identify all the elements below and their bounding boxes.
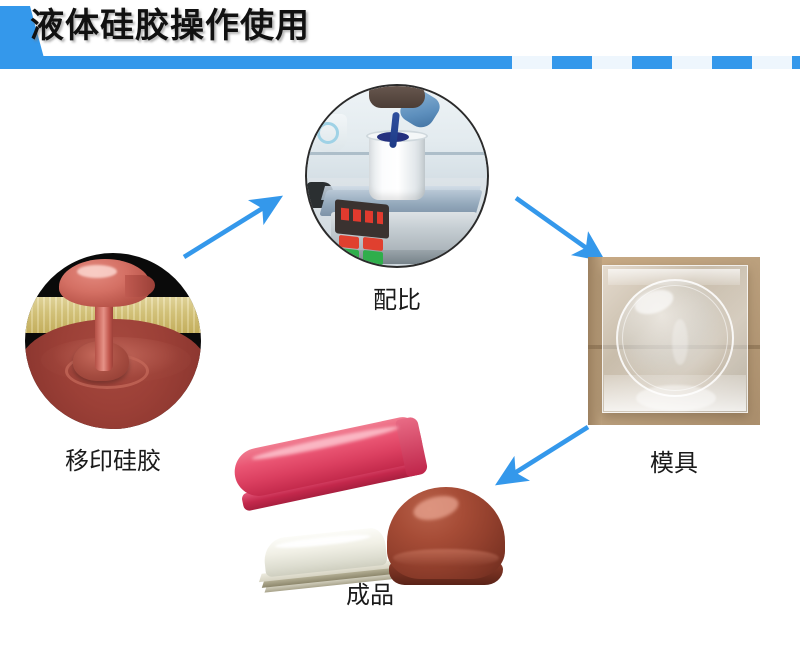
arrow-silicone-to-ratio [184, 200, 276, 257]
cavity-bottom-reflection [636, 385, 716, 411]
cardboard-edge-left [588, 257, 602, 425]
cavity-highlight-2 [672, 319, 688, 365]
operator-hand [369, 84, 425, 108]
silicone-photo [25, 253, 201, 429]
flow-label-mold: 模具 [588, 443, 760, 478]
dome-pad-edge-sheen [393, 549, 499, 567]
scale-key-green-1 [339, 248, 359, 263]
flow-label-ratio: 配比 [305, 280, 489, 315]
arrow-ratio-to-mold [516, 198, 599, 257]
scale-key-green-2 [363, 250, 383, 265]
product-red-dome-pad [387, 487, 505, 589]
flow-label-products: 成品 [225, 575, 515, 610]
bench-container-ring [317, 122, 339, 144]
mixing-cup [369, 134, 425, 200]
flow-node-silicone: 移印硅胶 [25, 253, 201, 429]
silicone-blob-highlight [77, 265, 117, 278]
mold-photo [588, 257, 760, 425]
flow-label-silicone: 移印硅胶 [25, 441, 201, 476]
scale-key-red-1 [339, 235, 359, 249]
ratio-photo [305, 84, 489, 268]
products-photo [225, 425, 515, 600]
flow-node-products: 成品 [225, 425, 515, 600]
flow-node-mold: 模具 [588, 257, 760, 425]
silicone-blob-tail [125, 275, 155, 297]
flow-node-ratio: 配比 [305, 84, 489, 268]
scale-key-red-2 [363, 237, 383, 251]
